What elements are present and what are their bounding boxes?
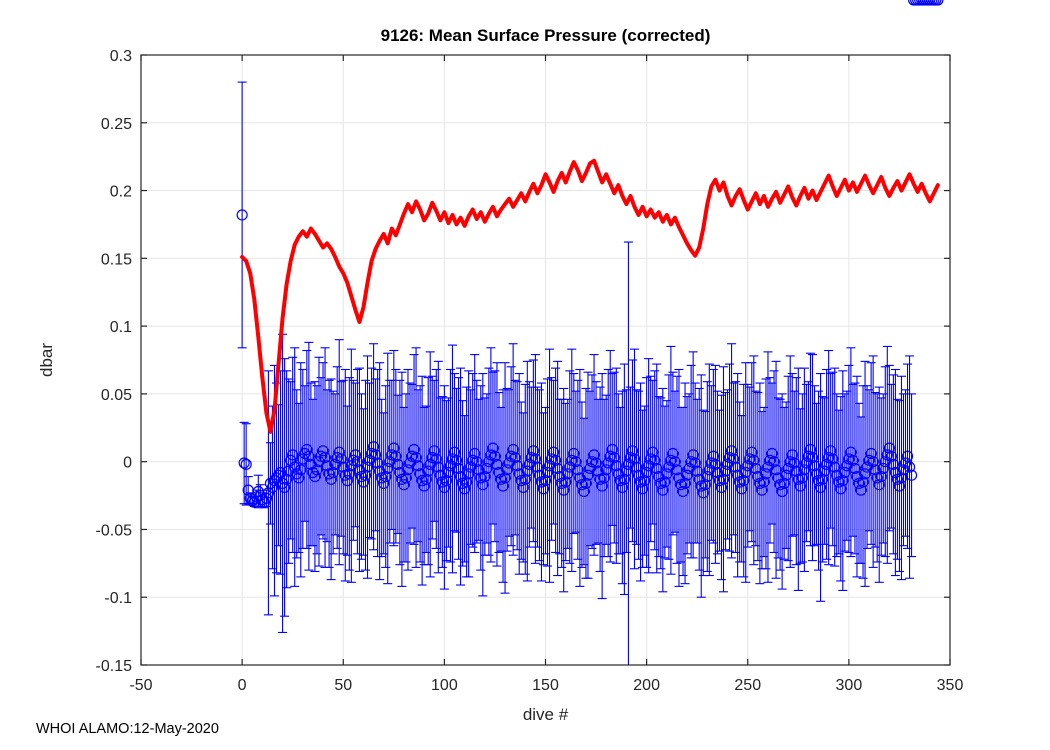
x-tick-label: 350 [937, 677, 964, 694]
y-tick-label: 0 [123, 455, 132, 472]
y-tick-label: 0.3 [110, 48, 132, 65]
y-tick-label: -0.05 [96, 522, 133, 539]
y-tick-label: 0.05 [101, 387, 132, 404]
page-title: 9126: Mean Surface Pressure (corrected) [381, 26, 711, 45]
x-tick-label: 300 [836, 677, 863, 694]
x-tick-label: 150 [532, 677, 559, 694]
y-axis-label: dbar [37, 343, 56, 377]
x-tick-label: 0 [238, 677, 247, 694]
x-axis-label: dive # [523, 705, 569, 724]
pressure-plot: -50050100150200250300350 -0.15-0.1-0.050… [0, 0, 1050, 750]
y-tick-label: 0.25 [101, 116, 132, 133]
y-tick-labels: -0.15-0.1-0.0500.050.10.150.20.250.3 [96, 48, 133, 675]
x-tick-label: -50 [129, 677, 152, 694]
x-tick-labels: -50050100150200250300350 [129, 677, 963, 694]
errorbar-series [238, 0, 938, 665]
footer-caption: WHOI ALAMO:12-May-2020 [36, 721, 219, 737]
x-tick-label: 200 [633, 677, 660, 694]
y-tick-label: 0.15 [101, 251, 132, 268]
y-tick-label: -0.1 [104, 590, 132, 607]
y-tick-label: 0.2 [110, 184, 132, 201]
x-tick-label: 50 [334, 677, 352, 694]
matlab-figure: -50050100150200250300350 -0.15-0.1-0.050… [0, 0, 1050, 750]
x-tick-label: 100 [431, 677, 458, 694]
y-tick-label: -0.15 [96, 658, 133, 675]
x-tick-label: 250 [734, 677, 761, 694]
y-tick-label: 0.1 [110, 319, 132, 336]
